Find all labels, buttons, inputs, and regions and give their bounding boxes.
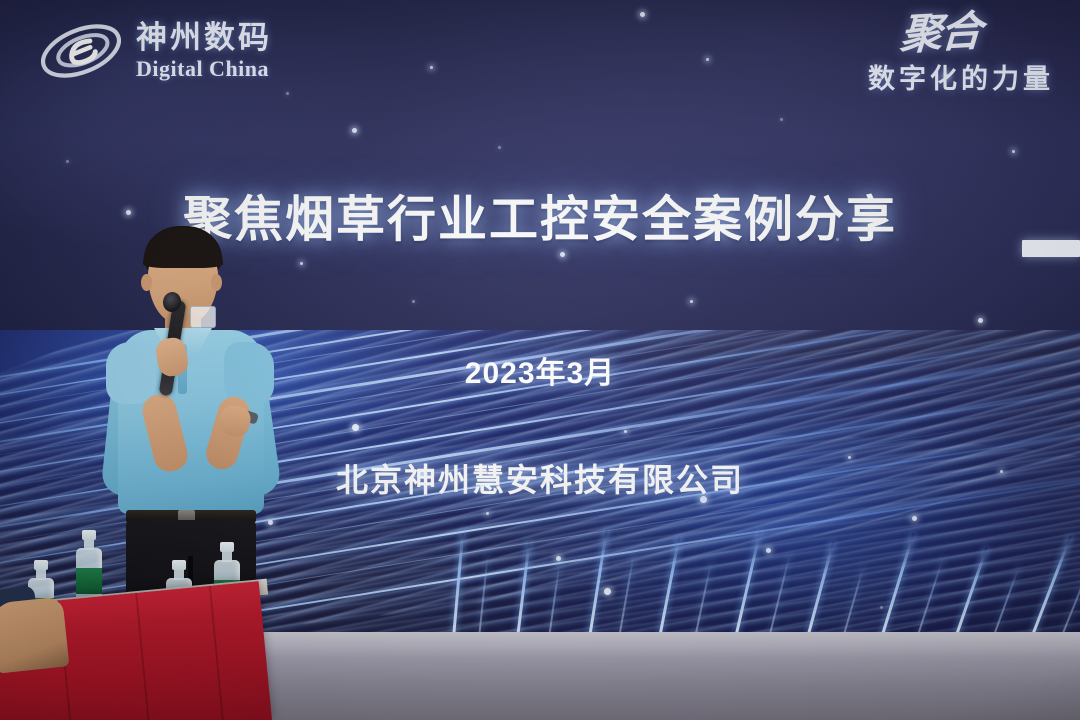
conference-photo-scene: 神州数码 Digital China 聚合 数字化的力量 聚焦烟草行业工控安全案…	[0, 0, 1080, 720]
event-subtitle: 数字化的力量	[868, 57, 1054, 96]
bottle-cap	[34, 560, 48, 570]
event-mark: 聚合 数字化的力量	[868, 16, 1054, 96]
attendee-arm	[0, 596, 69, 673]
bottle-cap	[220, 542, 234, 552]
speaker-ear-right	[211, 274, 222, 291]
bottle-cap	[82, 530, 96, 540]
brand-name-cn: 神州数码	[136, 22, 272, 53]
edge-decoration-bar	[1022, 240, 1080, 257]
event-calligraphy: 聚合	[867, 13, 981, 57]
brand-name-en: Digital China	[136, 58, 272, 80]
speaker-ear-left	[141, 274, 152, 291]
bottle-label	[76, 568, 102, 594]
brand-text-block: 神州数码 Digital China	[136, 22, 272, 80]
galaxy-swirl-icon	[38, 18, 124, 84]
shirt-badge-icon	[190, 306, 216, 328]
speaker-sleeve-left	[106, 342, 156, 404]
bottle-cap	[172, 560, 186, 570]
speaker-sleeve-right	[224, 342, 274, 404]
brand-logo: 神州数码 Digital China	[38, 18, 272, 84]
